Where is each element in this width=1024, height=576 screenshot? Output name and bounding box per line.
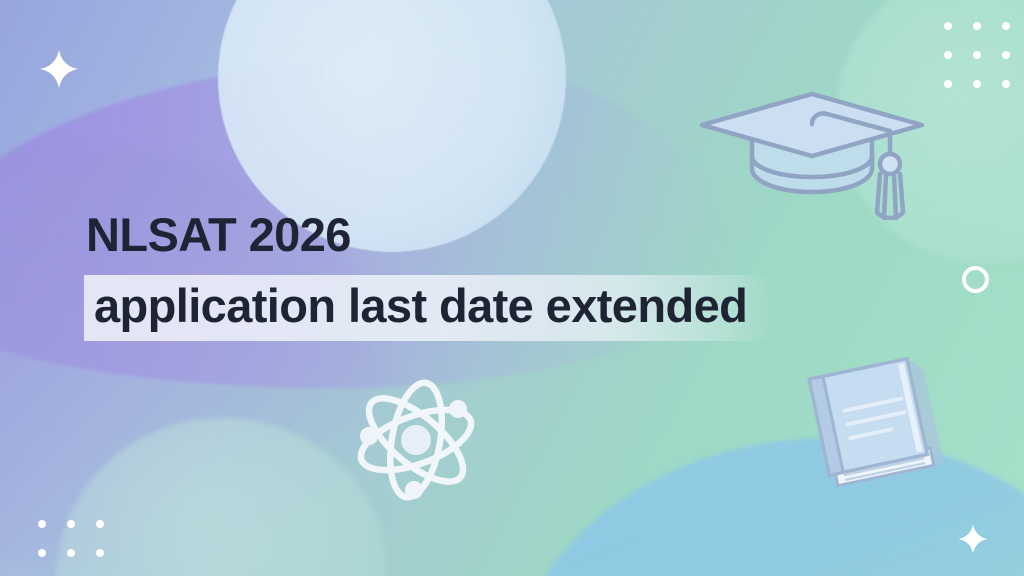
dot-grid-bottom-left: [38, 520, 104, 557]
dot: [38, 520, 46, 528]
dot: [67, 520, 75, 528]
dot: [944, 51, 952, 59]
ring-outline-icon: [962, 266, 989, 293]
dot: [1002, 51, 1010, 59]
headline-block: NLSAT 2026 application last date extende…: [84, 206, 944, 341]
dot-grid-top-right: [944, 22, 1010, 88]
dot: [67, 549, 75, 557]
sparkle-top-left-icon: [38, 48, 80, 90]
dot: [973, 22, 981, 30]
headline-highlight-band: application last date extended: [84, 275, 773, 341]
dot: [944, 80, 952, 88]
dot: [973, 80, 981, 88]
dot: [96, 549, 104, 557]
dot: [38, 549, 46, 557]
headline-line-1: NLSAT 2026: [84, 206, 944, 264]
atom-icon: [352, 378, 480, 502]
dot: [1002, 80, 1010, 88]
dot: [973, 51, 981, 59]
promo-banner: NLSAT 2026 application last date extende…: [0, 0, 1024, 576]
headline-line-2: application last date extended: [94, 280, 747, 332]
dot: [944, 22, 952, 30]
sparkle-bottom-right-icon: [957, 523, 989, 555]
mint-bottomleft-blob: [56, 418, 386, 576]
book-icon: [798, 352, 958, 496]
dot: [96, 520, 104, 528]
dot: [1002, 22, 1010, 30]
